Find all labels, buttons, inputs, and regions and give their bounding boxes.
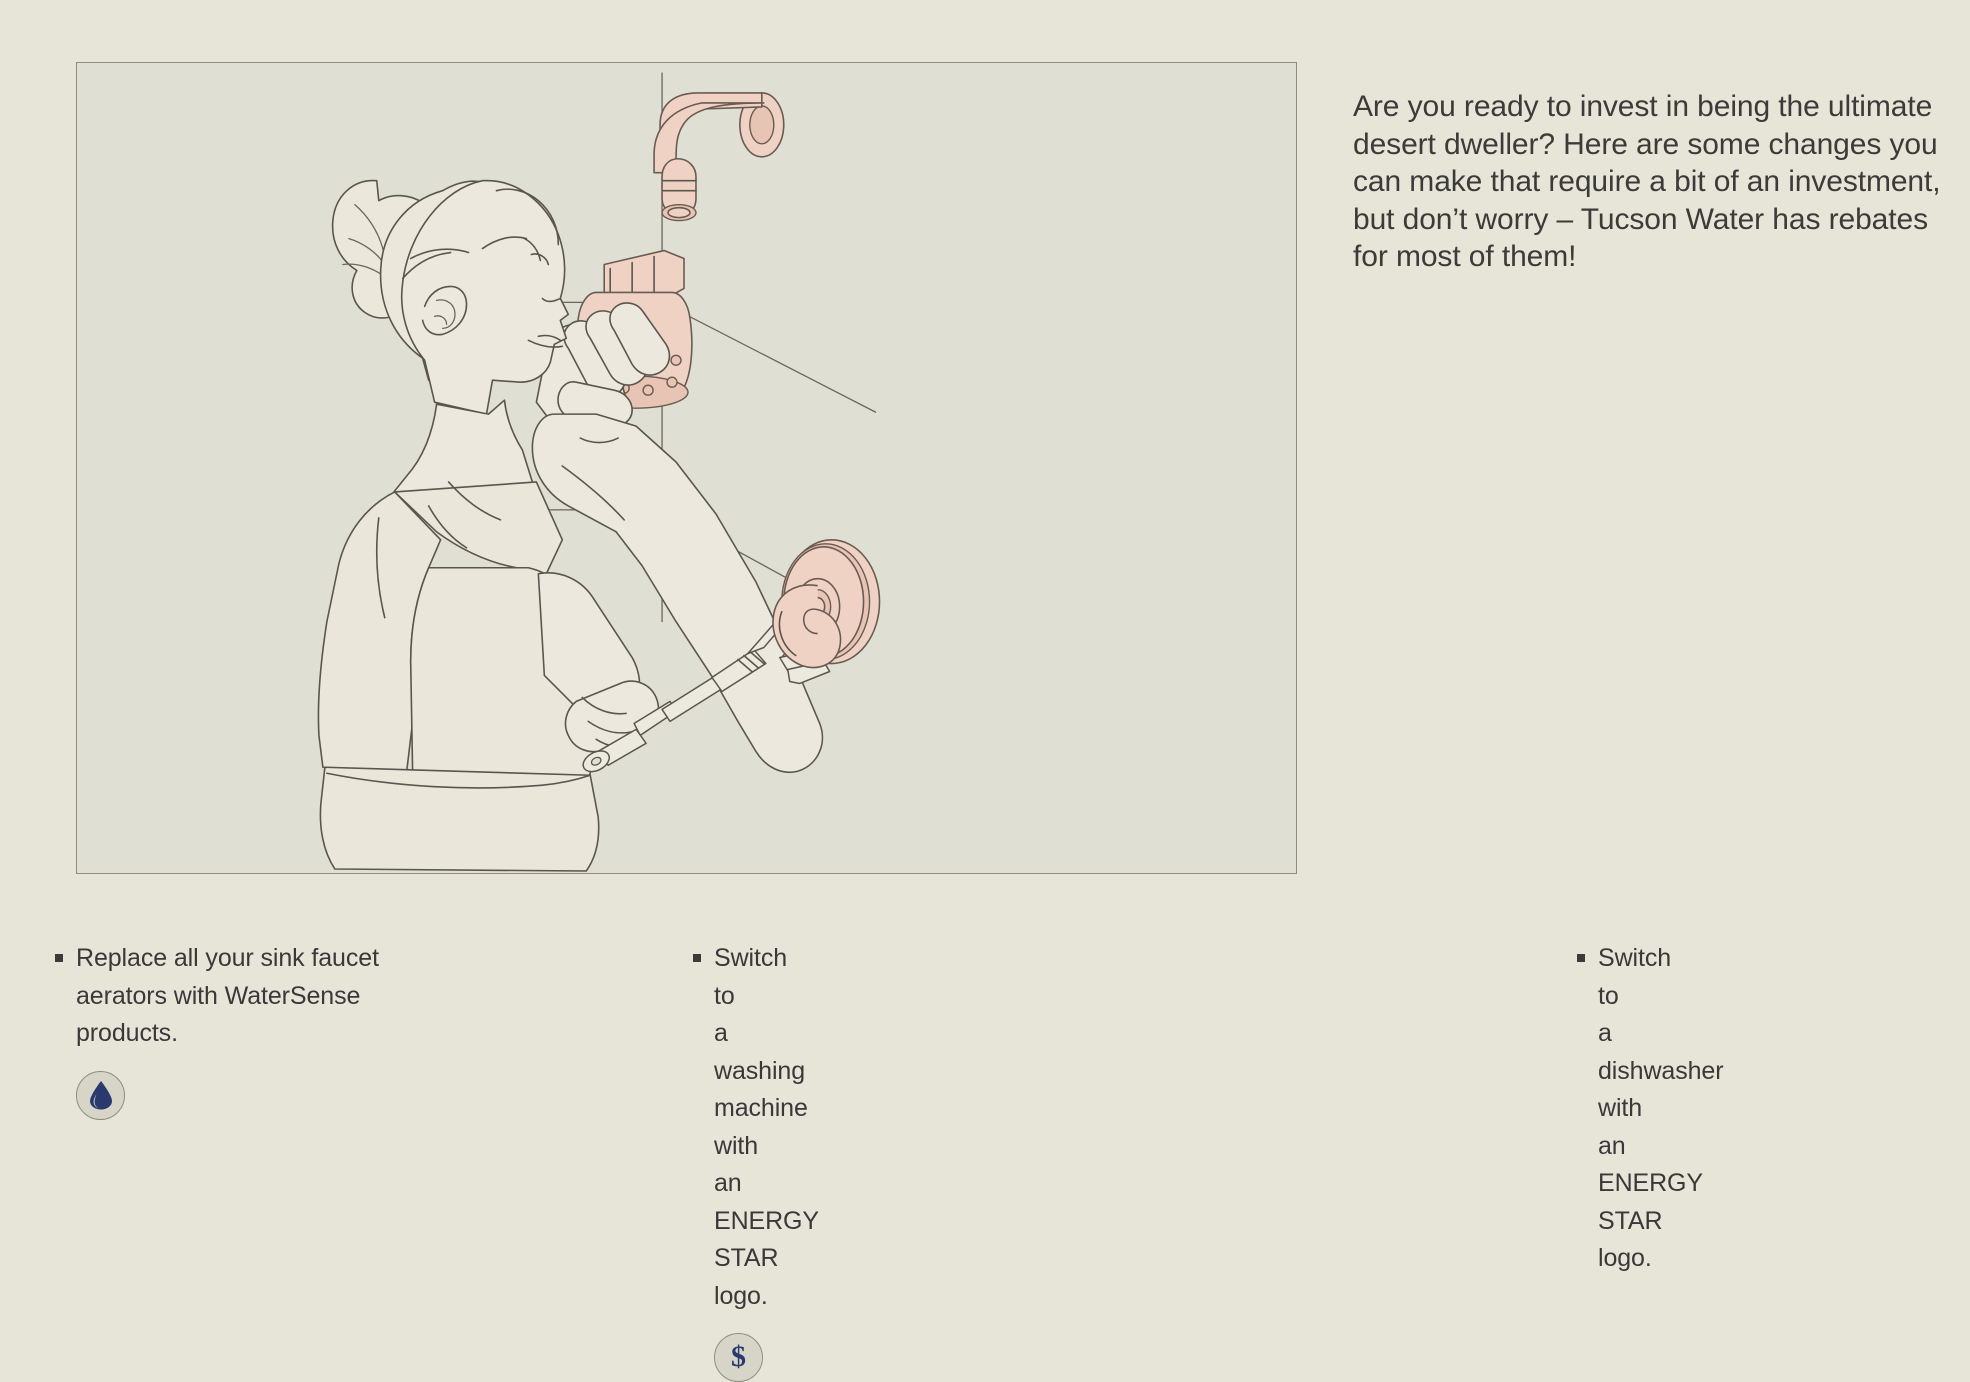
- showerhead-installation-illustration: .ln { fill:none; stroke:#5a564e; stroke-…: [77, 63, 1296, 873]
- bullet-square-icon: [1577, 954, 1585, 962]
- top-region: .ln { fill:none; stroke:#5a564e; stroke-…: [0, 0, 1970, 880]
- bullet-column-3: Switch to a dishwasher with an ENERGY ST…: [245, 940, 1658, 1120]
- illustration-panel: .ln { fill:none; stroke:#5a564e; stroke-…: [76, 62, 1297, 874]
- dollar-sign-badge[interactable]: $: [714, 1333, 763, 1382]
- dollar-sign-icon: $: [731, 1342, 746, 1372]
- bullet-row: Replace all your sink faucet aerators wi…: [0, 940, 1970, 1120]
- intro-paragraph: Are you ready to invest in being the ult…: [1353, 88, 1953, 276]
